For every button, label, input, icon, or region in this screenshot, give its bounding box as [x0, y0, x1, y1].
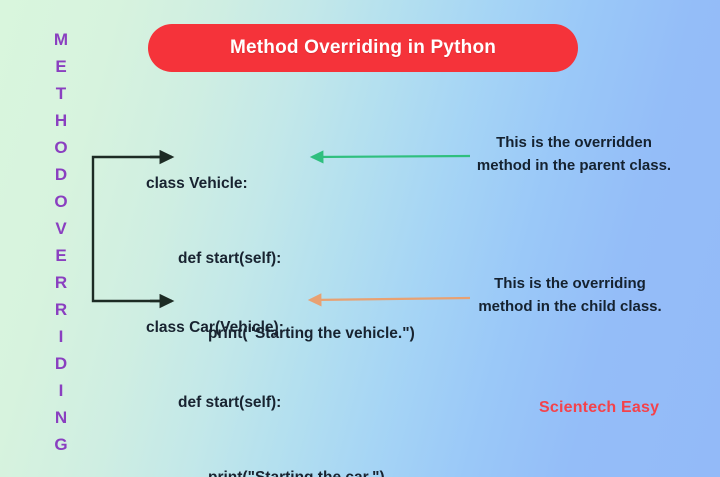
side-word-letter: O — [54, 188, 67, 215]
infographic-canvas: M E T H O D O V E R R I D I N G Method O… — [0, 0, 720, 477]
side-word-letter: D — [55, 161, 67, 188]
side-word-letter: T — [56, 80, 66, 107]
side-word-letter: M — [54, 26, 68, 53]
side-word-letter: R — [55, 296, 67, 323]
side-word-letter: H — [55, 107, 67, 134]
side-word-letter: N — [55, 404, 67, 431]
side-word-letter: E — [55, 242, 66, 269]
page-title: Method Overriding in Python — [230, 37, 496, 59]
side-word-letter: V — [55, 215, 66, 242]
page-title-pill: Method Overriding in Python — [148, 24, 578, 72]
code-line-def-start-child: def start(self): — [146, 390, 385, 415]
side-word-letter: E — [55, 53, 66, 80]
annotation-child-method: This is the overriding method in the chi… — [470, 272, 670, 318]
side-word-letter: I — [59, 377, 64, 404]
annotation-parent-method: This is the overridden method in the par… — [474, 131, 674, 177]
side-word-letter: G — [54, 431, 67, 458]
brand-watermark: Scientech Easy — [539, 399, 659, 417]
code-line-class-vehicle: class Vehicle: — [146, 171, 415, 196]
code-block-child-class: class Car(Vehicle): def start(self): pri… — [146, 265, 385, 477]
side-word-letter: O — [54, 134, 67, 161]
code-line-print-car: print("Starting the car.") — [146, 465, 385, 477]
side-word-letter: I — [59, 323, 64, 350]
vertical-side-word: M E T H O D O V E R R I D I N G — [48, 26, 74, 458]
side-word-letter: D — [55, 350, 67, 377]
side-word-letter: R — [55, 269, 67, 296]
code-line-class-car: class Car(Vehicle): — [146, 315, 385, 340]
